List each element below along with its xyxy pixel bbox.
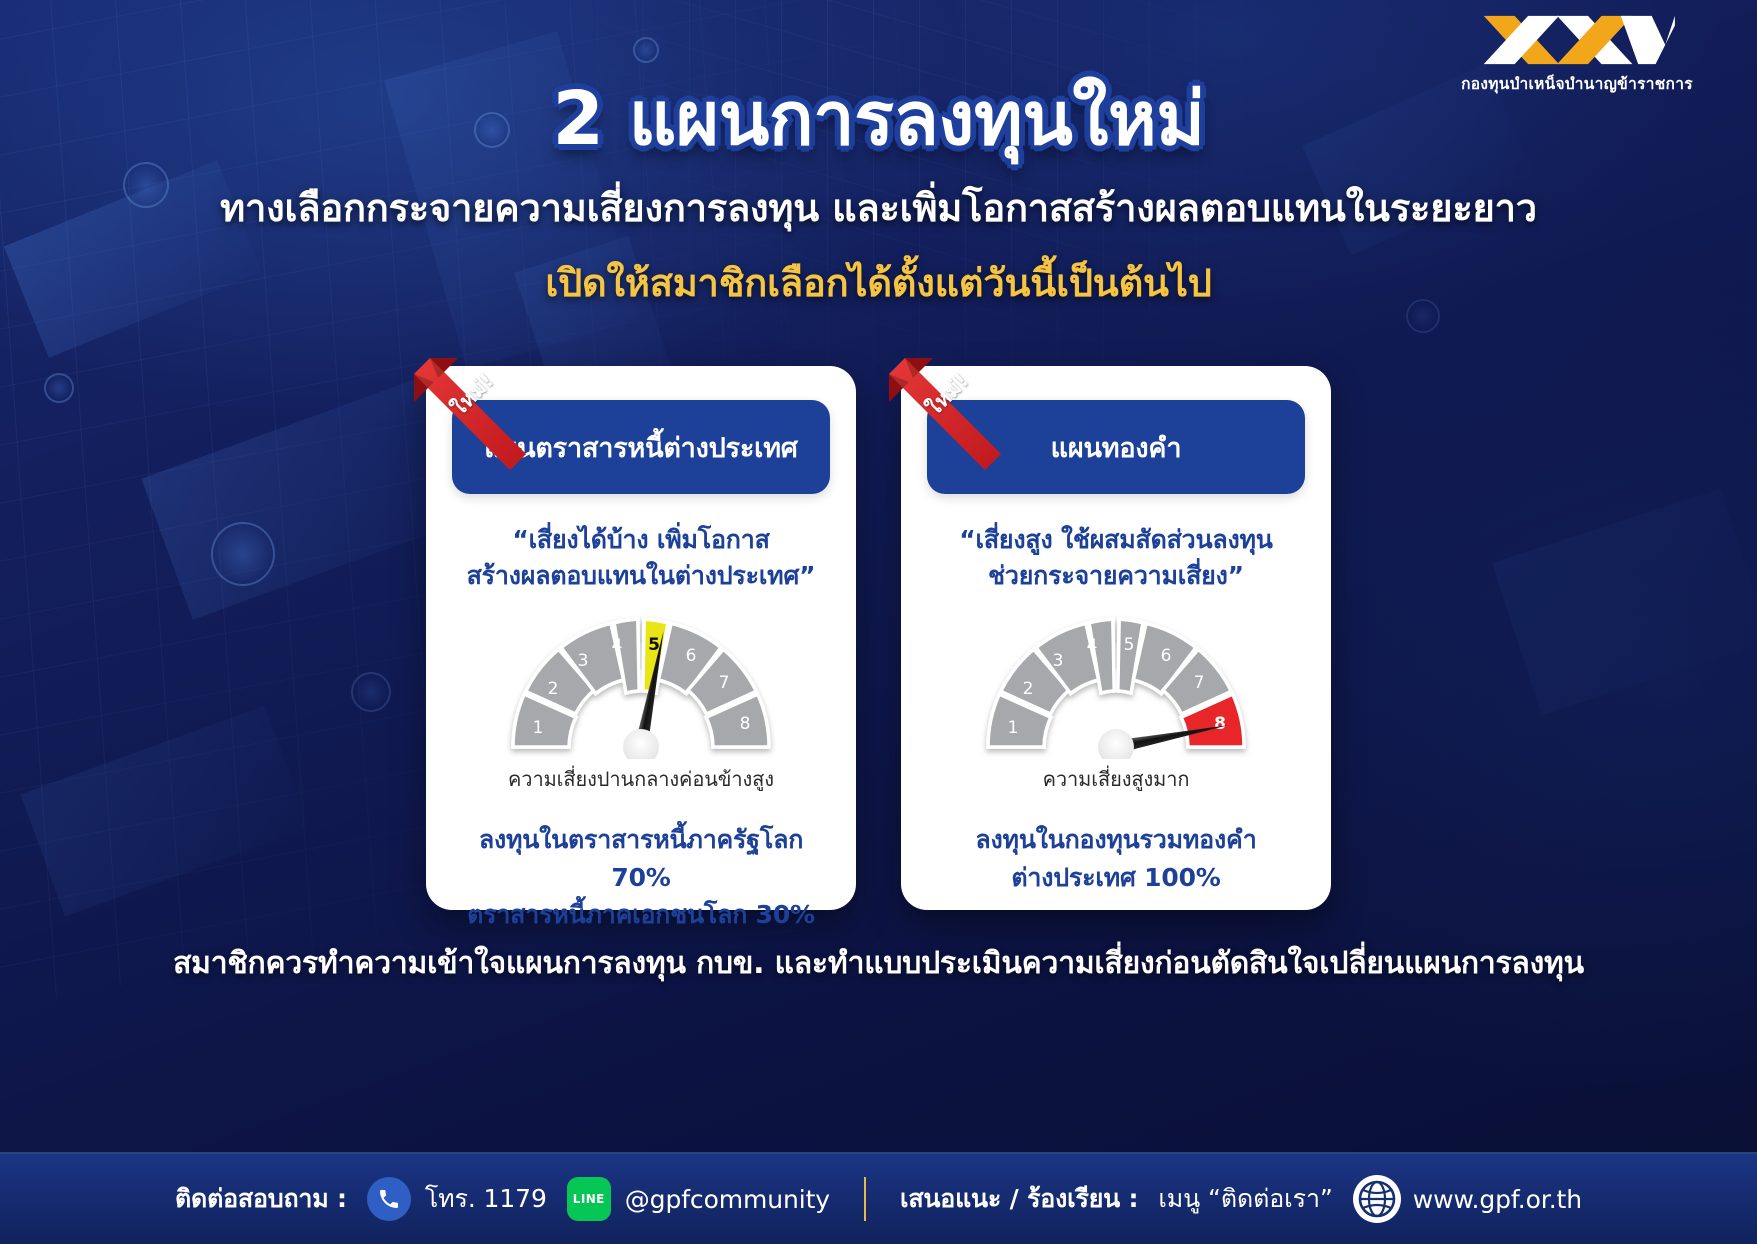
svg-text:2: 2 (548, 679, 559, 699)
plan-allocation: ลงทุนในกองทุนรวมทองคำ ต่างประเทศ 100% (927, 821, 1305, 896)
risk-level-label: ความเสี่ยงปานกลางค่อนข้างสูง (452, 763, 830, 795)
svg-text:4: 4 (1087, 636, 1098, 656)
plan-quote: “เสี่ยงสูง ใช้ผสมสัดส่วนลงทุน ช่วยกระจาย… (927, 522, 1305, 593)
suggest-label: เสนอแนะ / ร้องเรียน : (900, 1179, 1138, 1219)
page-title: 2 แผนการลงทุนใหม่ (0, 78, 1757, 161)
risk-gauge: 1 2 3 4 5 6 7 8 (966, 607, 1266, 759)
svg-text:5: 5 (1124, 635, 1135, 655)
website-contact[interactable]: www.gpf.or.th (1353, 1175, 1582, 1223)
plan-card-title: แผนตราสารหนี้ต่างประเทศ (452, 400, 830, 494)
plan-quote-line2: ช่วยกระจายความเสี่ยง” (927, 558, 1305, 594)
gauge-hub (623, 729, 659, 759)
suggest-value: เมนู “ติดต่อเรา” (1158, 1179, 1332, 1219)
svg-text:6: 6 (686, 646, 697, 666)
plan-allocation-line1: ลงทุนในตราสารหนี้ภาครัฐโลก 70% (452, 821, 830, 896)
plan-card-gold: ใหม่! แผนทองคำ “เสี่ยงสูง ใช้ผสมสัดส่วนล… (901, 366, 1331, 910)
page-subtitle-highlight: เปิดให้สมาชิกเลือกได้ตั้งแต่วันนี้เป็นต้… (0, 252, 1757, 313)
risk-gauge-container: 1 2 3 4 5 6 7 8 (927, 607, 1305, 759)
plan-quote-line2: สร้างผลตอบแทนในต่างประเทศ” (452, 558, 830, 594)
svg-text:6: 6 (1161, 646, 1172, 666)
svg-text:1: 1 (1008, 718, 1019, 738)
svg-text:4: 4 (612, 636, 623, 656)
phone-contact[interactable]: โทร. 1179 (367, 1177, 547, 1221)
contact-label: ติดต่อสอบถาม : (175, 1179, 347, 1219)
gauge-hub (1098, 729, 1134, 759)
disclaimer-note: สมาชิกควรทำความเข้าใจแผนการลงทุน กบข. แล… (0, 940, 1757, 987)
header: 2 แผนการลงทุนใหม่ ทางเลือกกระจายความเสี่… (0, 78, 1757, 313)
plan-allocation-line1: ลงทุนในกองทุนรวมทองคำ (927, 821, 1305, 859)
svg-text:5: 5 (648, 635, 660, 655)
line-icon: LINE (567, 1177, 611, 1221)
svg-text:8: 8 (740, 714, 751, 734)
line-id: @gpfcommunity (625, 1185, 830, 1214)
website-url: www.gpf.or.th (1413, 1185, 1582, 1214)
svg-text:2: 2 (1023, 679, 1034, 699)
risk-level-label: ความเสี่ยงสูงมาก (927, 763, 1305, 795)
plan-quote-line1: “เสี่ยงสูง ใช้ผสมสัดส่วนลงทุน (927, 522, 1305, 558)
phone-number: โทร. 1179 (425, 1179, 547, 1219)
plan-allocation-line2: ตราสารหนี้ภาคเอกชนโลก 30% (452, 896, 830, 934)
phone-icon (367, 1177, 411, 1221)
svg-text:8: 8 (1214, 714, 1226, 734)
risk-gauge-container: 1 2 3 4 5 6 7 8 (452, 607, 830, 759)
plan-card-foreign-bond: ใหม่! แผนตราสารหนี้ต่างประเทศ “เสี่ยงได้… (426, 366, 856, 910)
line-contact[interactable]: LINE @gpfcommunity (567, 1177, 830, 1221)
globe-icon (1353, 1175, 1401, 1223)
plan-cards: ใหม่! แผนตราสารหนี้ต่างประเทศ “เสี่ยงได้… (0, 366, 1757, 910)
contact-footer: ติดต่อสอบถาม : โทร. 1179 LINE @gpfcommun… (0, 1152, 1757, 1244)
plan-card-title: แผนทองคำ (927, 400, 1305, 494)
footer-divider (864, 1177, 866, 1221)
plan-quote: “เสี่ยงได้บ้าง เพิ่มโอกาส สร้างผลตอบแทนใ… (452, 522, 830, 593)
svg-text:7: 7 (719, 673, 730, 693)
line-badge-text: LINE (573, 1192, 605, 1206)
plan-allocation: ลงทุนในตราสารหนี้ภาครัฐโลก 70% ตราสารหนี… (452, 821, 830, 934)
page-subtitle: ทางเลือกกระจายความเสี่ยงการลงทุน และเพิ่… (0, 177, 1757, 238)
plan-quote-line1: “เสี่ยงได้บ้าง เพิ่มโอกาส (452, 522, 830, 558)
svg-text:3: 3 (1053, 651, 1064, 671)
plan-allocation-line2: ต่างประเทศ 100% (927, 859, 1305, 897)
svg-text:3: 3 (578, 651, 589, 671)
xxv-logo-icon (1476, 12, 1679, 68)
risk-gauge: 1 2 3 4 5 6 7 8 (491, 607, 791, 759)
svg-text:7: 7 (1194, 673, 1205, 693)
background-circle (633, 37, 659, 63)
svg-text:1: 1 (533, 718, 544, 738)
